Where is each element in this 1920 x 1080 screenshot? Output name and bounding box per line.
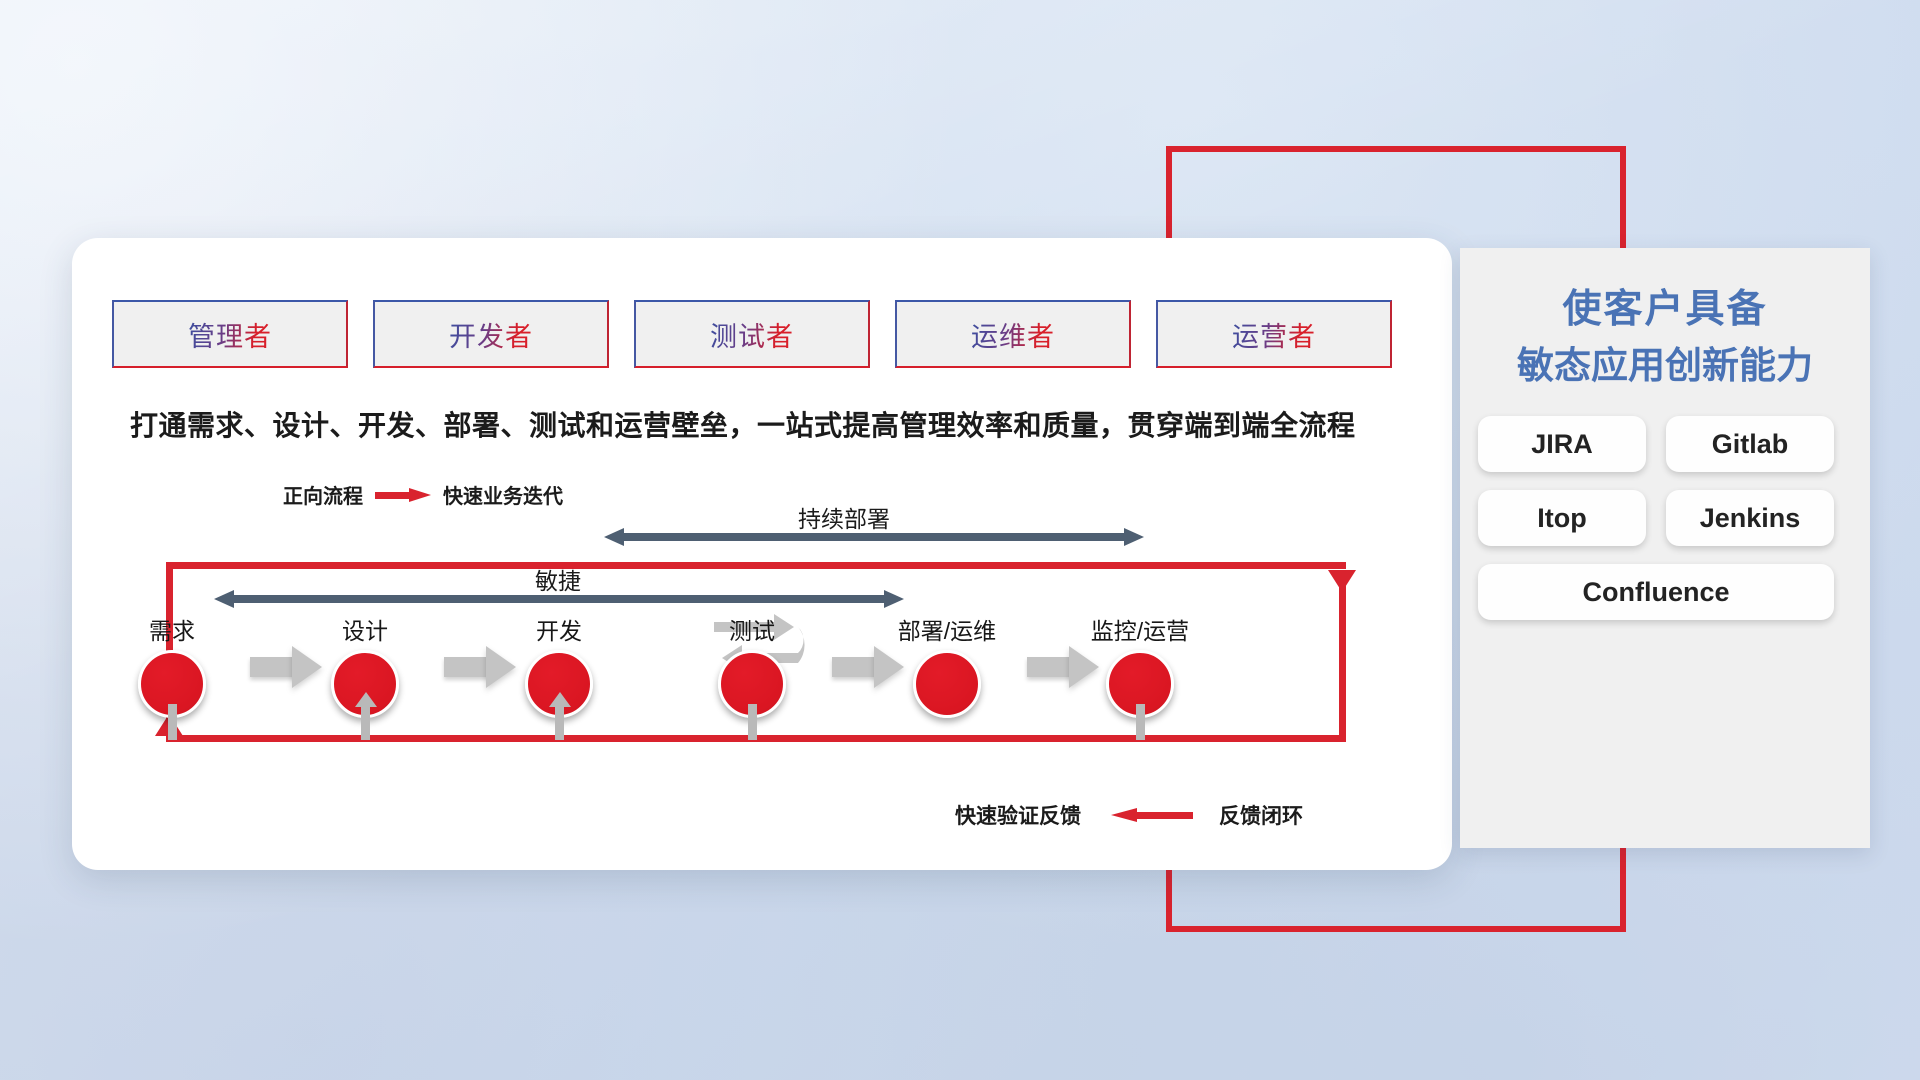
riser-design	[361, 704, 370, 740]
stage-label: 测试	[692, 612, 812, 646]
connector-frame-top	[1166, 146, 1626, 152]
legend-forward-left-label: 正向流程	[283, 480, 363, 509]
headline-text: 打通需求、设计、开发、部署、测试和运营壁垒，一站式提高管理效率和质量，贯穿端到端…	[130, 404, 1430, 444]
pipeline: 需求 设计 开发 测试 部署/运维 监控/运营	[112, 612, 1432, 742]
pipeline-stage-requirements[interactable]: 需求	[112, 612, 232, 718]
stage-label: 部署/运维	[887, 612, 1007, 646]
role-label: 运营者	[1232, 315, 1316, 354]
legend-feedback-left-label: 快速验证反馈	[955, 800, 1081, 830]
tool-pill-confluence[interactable]: Confluence	[1478, 564, 1834, 620]
panel-title: 使客户具备 敏态应用创新能力	[1460, 248, 1870, 392]
tool-pill-jira[interactable]: JIRA	[1478, 416, 1646, 472]
role-box-operator[interactable]: 运营者	[1156, 300, 1392, 368]
stage-dot	[913, 650, 981, 718]
panel-title-line-2: 敏态应用创新能力	[1460, 339, 1870, 393]
role-box-manager[interactable]: 管理者	[112, 300, 348, 368]
role-box-tester[interactable]: 测试者	[634, 300, 870, 368]
riser-monitor	[1136, 704, 1145, 740]
stage-label: 需求	[112, 612, 232, 646]
role-label: 管理者	[188, 315, 272, 354]
tool-pill-group: JIRA Gitlab Itop Jenkins Confluence	[1478, 416, 1852, 620]
feedback-loop-top-segment	[166, 562, 1346, 569]
pipeline-stage-monitor-operate[interactable]: 监控/运营	[1080, 612, 1200, 718]
panel-title-line-1: 使客户具备	[1460, 282, 1870, 339]
legend-feedback-loop: 快速验证反馈 反馈闭环	[955, 800, 1303, 830]
double-arrow-continuous-deployment-icon	[604, 528, 1144, 546]
feedback-loop-arrowhead-down-icon	[1328, 570, 1356, 592]
connector-frame-bottom	[1166, 926, 1626, 932]
pipeline-stage-deploy-ops[interactable]: 部署/运维	[887, 612, 1007, 718]
role-box-ops[interactable]: 运维者	[895, 300, 1131, 368]
role-box-group: 管理者 开发者 测试者 运维者 运营者	[112, 300, 1392, 368]
role-label: 测试者	[710, 315, 794, 354]
legend-forward-flow: 正向流程 快速业务迭代	[283, 480, 563, 509]
tool-pill-gitlab[interactable]: Gitlab	[1666, 416, 1834, 472]
role-label: 运维者	[971, 315, 1055, 354]
riser-development-head-icon	[549, 692, 571, 707]
double-arrow-agile-icon	[214, 590, 904, 608]
red-arrow-left-icon	[1107, 808, 1193, 822]
stage-label: 监控/运营	[1080, 612, 1200, 646]
riser-testing	[748, 704, 757, 740]
stage-label: 设计	[305, 612, 425, 646]
role-label: 开发者	[449, 315, 533, 354]
legend-forward-right-label: 快速业务迭代	[443, 480, 563, 509]
legend-feedback-right-label: 反馈闭环	[1219, 800, 1303, 830]
stage-label: 开发	[499, 612, 619, 646]
riser-development	[555, 704, 564, 740]
tool-pill-itop[interactable]: Itop	[1478, 490, 1646, 546]
outcome-panel: 使客户具备 敏态应用创新能力 JIRA Gitlab Itop Jenkins …	[1460, 248, 1870, 848]
red-arrow-right-icon	[375, 488, 431, 502]
tool-pill-jenkins[interactable]: Jenkins	[1666, 490, 1834, 546]
riser-design-head-icon	[355, 692, 377, 707]
riser-requirements	[168, 704, 177, 740]
role-box-developer[interactable]: 开发者	[373, 300, 609, 368]
pipeline-stage-testing[interactable]: 测试	[692, 612, 812, 718]
